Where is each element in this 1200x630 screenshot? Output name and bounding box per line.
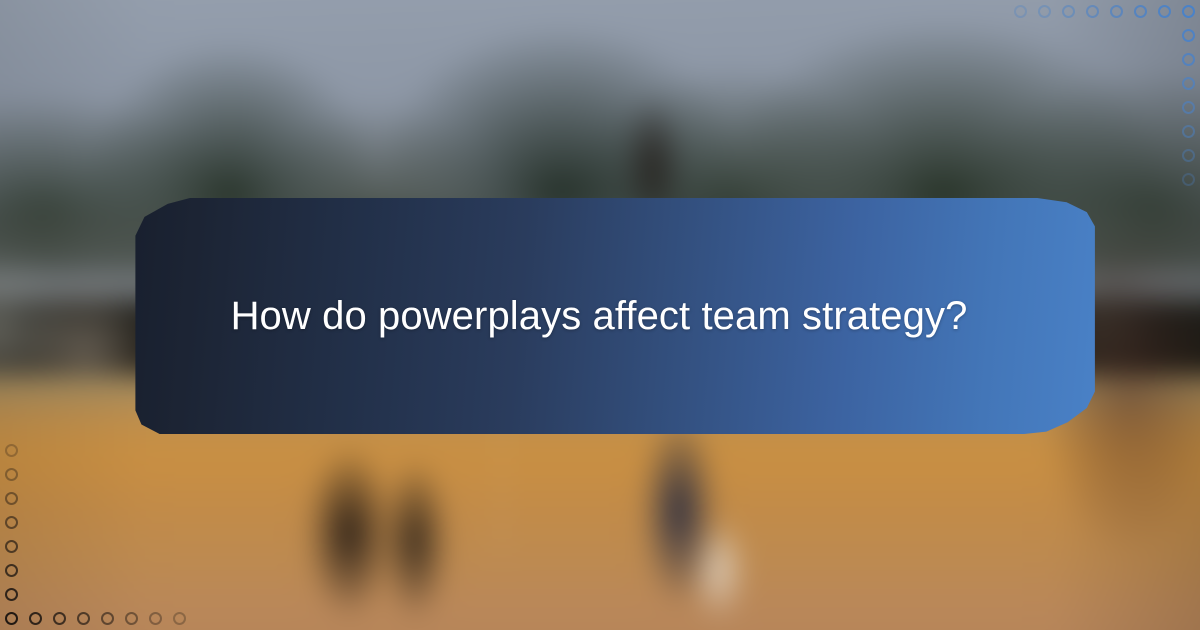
decorative-dot bbox=[1182, 5, 1195, 18]
question-text: How do powerplays affect team strategy? bbox=[231, 292, 968, 340]
decorative-dot bbox=[149, 612, 162, 625]
decorative-dots-bottom-left bbox=[0, 420, 210, 630]
decorative-dot bbox=[5, 516, 18, 529]
decorative-dot bbox=[5, 612, 18, 625]
decorative-dot bbox=[5, 564, 18, 577]
decorative-dot bbox=[1134, 5, 1147, 18]
decorative-dot bbox=[5, 468, 18, 481]
decorative-dot bbox=[53, 612, 66, 625]
question-banner-text-area: How do powerplays affect team strategy? bbox=[95, 198, 1105, 434]
decorative-dots-top-right bbox=[990, 0, 1200, 210]
decorative-dot bbox=[1182, 77, 1195, 90]
decorative-dot bbox=[1062, 5, 1075, 18]
decorative-dot bbox=[125, 612, 138, 625]
decorative-dot bbox=[5, 444, 18, 457]
decorative-dot bbox=[1038, 5, 1051, 18]
decorative-dot bbox=[77, 612, 90, 625]
decorative-dot bbox=[1182, 101, 1195, 114]
decorative-dot bbox=[1014, 5, 1027, 18]
decorative-dot bbox=[101, 612, 114, 625]
decorative-dot bbox=[5, 540, 18, 553]
decorative-dot bbox=[5, 492, 18, 505]
decorative-dot bbox=[29, 612, 42, 625]
decorative-dot bbox=[1182, 149, 1195, 162]
decorative-dot bbox=[173, 612, 186, 625]
decorative-dot bbox=[1182, 125, 1195, 138]
decorative-dot bbox=[5, 588, 18, 601]
decorative-dot bbox=[1182, 173, 1195, 186]
decorative-dot bbox=[1086, 5, 1099, 18]
decorative-dot bbox=[1182, 29, 1195, 42]
decorative-dot bbox=[1110, 5, 1123, 18]
decorative-dot bbox=[1158, 5, 1171, 18]
decorative-dot bbox=[1182, 53, 1195, 66]
slide-canvas: How do powerplays affect team strategy? bbox=[0, 0, 1200, 630]
question-banner: How do powerplays affect team strategy? bbox=[95, 198, 1105, 434]
